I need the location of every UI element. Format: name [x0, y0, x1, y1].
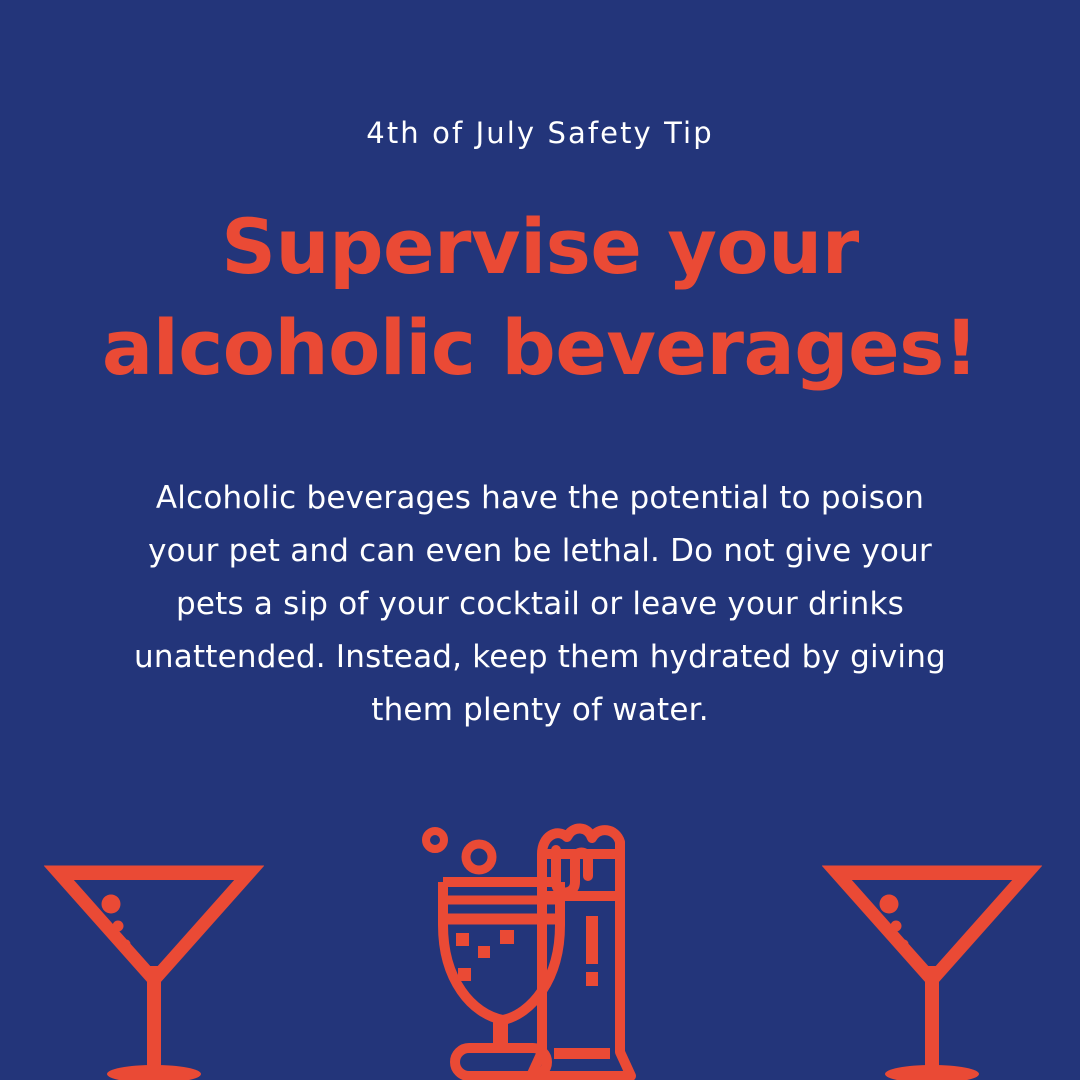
beer-base-bar: [554, 1048, 610, 1059]
martini-bubble-large: [102, 895, 121, 914]
eyebrow-text: 4th of July Safety Tip: [0, 112, 1080, 154]
martini-bowl-shape: [58, 872, 250, 980]
beer-foam-drip: [556, 850, 588, 893]
martini-rim: [836, 866, 1028, 880]
wine-bubble-3: [478, 946, 490, 958]
wine-and-beer-glasses-illustration: [420, 820, 660, 1080]
body-line-4: unattended. Instead, keep them hydrated …: [90, 631, 990, 684]
headline-line-2: alcoholic beverages!: [50, 297, 1030, 398]
martini-glass-right-illustration: [822, 862, 1042, 1080]
martini-bubble-small: [900, 940, 909, 949]
body-paragraph: Alcoholic beverages have the potential t…: [90, 472, 990, 737]
headline-line-1: Supervise your: [50, 196, 1030, 297]
floating-bubbles-group: [426, 831, 492, 870]
martini-stem: [925, 966, 939, 1072]
martini-glass-left-illustration: [44, 862, 264, 1080]
bubble-ring-small-icon: [426, 831, 444, 849]
beer-exclamation-stem: [586, 916, 598, 964]
martini-bubble-large: [880, 895, 899, 914]
body-line-3: pets a sip of your cocktail or leave you…: [90, 578, 990, 631]
wine-bubble-2: [500, 930, 514, 944]
page-title: Supervise your alcoholic beverages!: [50, 196, 1030, 398]
poster-canvas: 4th of July Safety Tip Supervise your al…: [0, 0, 1080, 1080]
martini-bubble-medium: [891, 921, 902, 932]
beer-body-shape: [531, 854, 631, 1076]
wine-bubble-1: [456, 933, 469, 946]
beer-exclamation-dot: [586, 972, 598, 986]
martini-rim: [58, 866, 250, 880]
beer-glass-icon: [531, 828, 631, 1076]
body-line-1: Alcoholic beverages have the potential t…: [90, 472, 990, 525]
martini-stem: [147, 966, 161, 1072]
martini-bubble-small: [122, 940, 131, 949]
martini-base: [885, 1065, 979, 1080]
body-line-5: them plenty of water.: [90, 684, 990, 737]
martini-bubble-medium: [113, 921, 124, 932]
wine-bubble-4: [458, 968, 471, 981]
martini-base: [107, 1065, 201, 1080]
martini-glass-icon: [58, 866, 250, 1080]
body-line-2: your pet and can even be lethal. Do not …: [90, 525, 990, 578]
martini-bowl-shape: [836, 872, 1028, 980]
martini-glass-icon: [836, 866, 1028, 1080]
bubble-ring-large-icon: [466, 844, 492, 870]
